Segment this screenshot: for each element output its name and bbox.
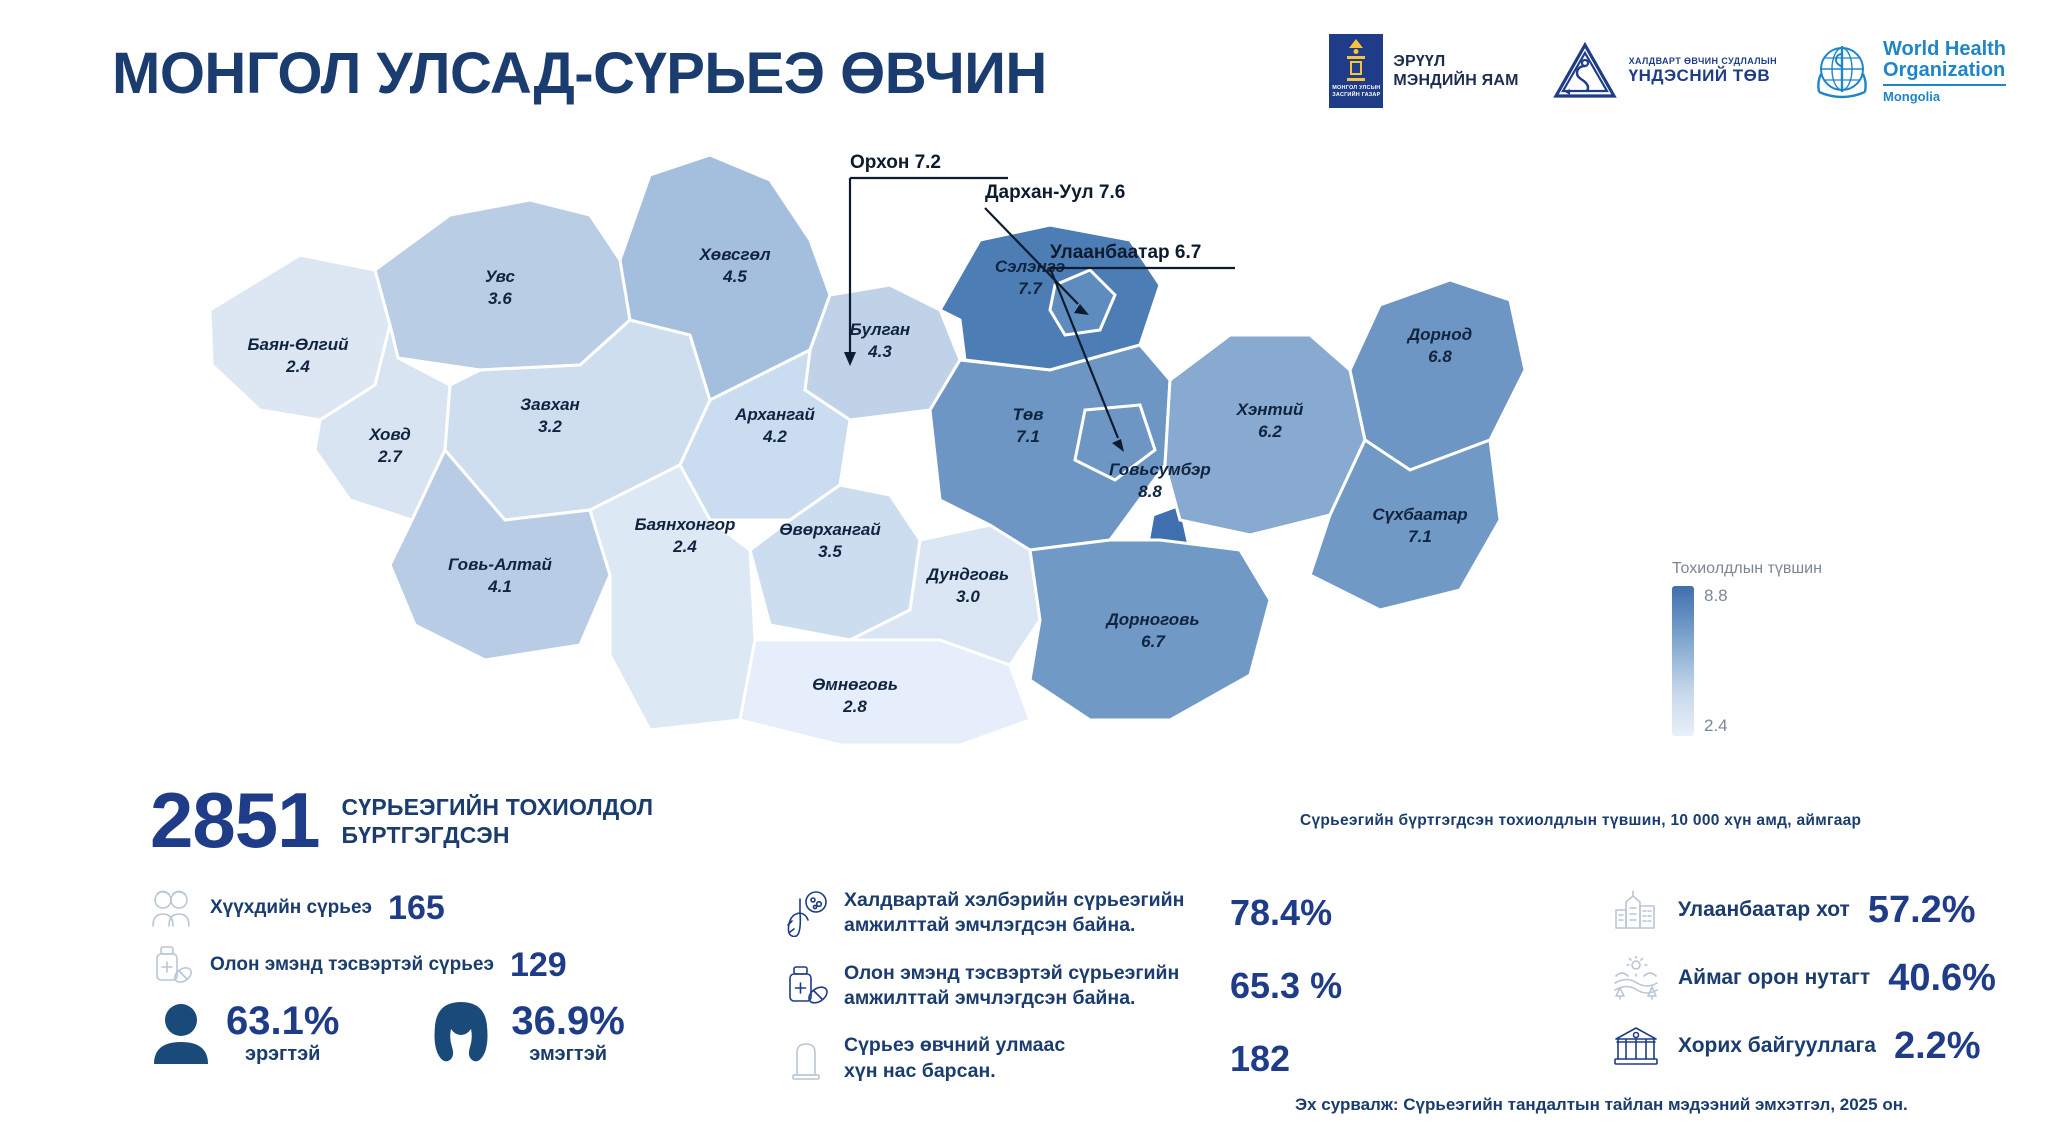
gender-male-value: 63.1% xyxy=(226,1001,339,1041)
stat-row-mdr-tb-success: Олон эмэнд тэсвэртэй сүрьеэгийн амжилтта… xyxy=(782,961,1342,1012)
who-divider xyxy=(1883,84,2006,86)
region-label-tov: Төв xyxy=(1012,405,1043,424)
legend-title: Тохиолдлын түвшин xyxy=(1672,560,1972,578)
region-value-sukhbaatar: 7.1 xyxy=(1408,527,1432,546)
stat-row-mdr-tb: Олон эмэнд тэсвэртэй сүрьеэ 129 xyxy=(148,944,567,986)
who-name-line1: World Health xyxy=(1883,39,2006,60)
region-dornogovi xyxy=(1030,540,1270,720)
who-country: Mongolia xyxy=(1883,89,2006,104)
region-label-khentii: Хэнтий xyxy=(1236,400,1304,419)
caduceus-triangle-icon xyxy=(1553,42,1617,100)
who-logo-name: World Health Organization Mongolia xyxy=(1883,39,2006,104)
stat-label-ulaanbaatar: Улаанбаатар хот xyxy=(1678,896,1850,923)
gov-name-line2: МЭНДИЙН ЯАМ xyxy=(1393,71,1518,90)
treatment-stats-list: Халдвартай хэлбэрийн сүрьеэгийн амжилтта… xyxy=(782,888,1342,1084)
region-label-uvs: Увс xyxy=(485,267,516,286)
male-icon xyxy=(150,1000,212,1066)
stat-row-infectious-tb-success: Халдвартай хэлбэрийн сүрьеэгийн амжилтта… xyxy=(782,888,1342,939)
region-dornod xyxy=(1350,280,1525,470)
soyombo-icon xyxy=(1346,39,1366,83)
stat-value-ulaanbaatar: 57.2% xyxy=(1868,889,1976,932)
callout-label-darkhan-uul: Дархан-Уул 7.6 xyxy=(985,182,1125,203)
callout-label-orkhon: Орхон 7.2 xyxy=(850,152,941,173)
stat-label-line1: Олон эмэнд тэсвэртэй сүрьеэгийн xyxy=(844,961,1216,986)
source-note: Эх сурвалж: Сүрьеэгийн тандалтын тайлан … xyxy=(1295,1095,1908,1115)
region-value-selenge: 7.7 xyxy=(1018,279,1043,298)
logo-strip: МОНГОЛ УЛСЫН ЗАСГИЙН ГАЗАР ЭРҮҮЛ МЭНДИЙН… xyxy=(1329,34,2006,108)
gender-breakdown: 63.1% эрэгтэй 36.9% эмэгтэй xyxy=(150,1000,625,1066)
stat-row-ulaanbaatar: Улаанбаатар хот 57.2% xyxy=(1612,888,1996,932)
total-cases-number: 2851 xyxy=(150,785,320,857)
gov-logo: МОНГОЛ УЛСЫН ЗАСГИЙН ГАЗАР ЭРҮҮЛ МЭНДИЙН… xyxy=(1329,34,1518,108)
gender-female-label: эмэгтэй xyxy=(529,1043,607,1066)
stat-value-prison: 2.2% xyxy=(1894,1025,1981,1068)
region-label-govi-altai: Говь-Алтай xyxy=(448,555,552,574)
region-label-zavkhan: Завхан xyxy=(520,395,580,414)
stat-row-prison: Хорих байгууллага 2.2% xyxy=(1612,1024,1996,1068)
region-label-sukhbaatar: Сүхбаатар xyxy=(1372,505,1467,524)
stat-value-mdr-tb: 129 xyxy=(510,946,567,985)
stat-value-child-tb: 165 xyxy=(388,889,445,928)
total-cases-label-line2: БҮРТГЭГДСЭН xyxy=(342,821,654,849)
region-value-govi-altai: 4.1 xyxy=(487,577,512,596)
mongolia-choropleth-map: Баян-Өлгий 2.4 Увс 3.6 Ховд 2.7 Завхан 3… xyxy=(150,120,1570,750)
stat-value-tb-deaths: 182 xyxy=(1230,1038,1290,1080)
region-value-omnogovi: 2.8 xyxy=(842,697,867,716)
gender-male: 63.1% эрэгтэй xyxy=(150,1000,339,1066)
region-label-govisumber: Говьсумбэр xyxy=(1109,460,1211,479)
region-label-khovd: Ховд xyxy=(368,425,410,444)
stat-label-infectious-tb-success: Халдвартай хэлбэрийн сүрьеэгийн амжилтта… xyxy=(844,888,1216,939)
prison-building-icon xyxy=(1612,1024,1660,1068)
legend-min-value: 2.4 xyxy=(1704,716,1728,736)
who-name-line2: Organization xyxy=(1883,60,2006,81)
medicine-bottle-icon xyxy=(782,962,830,1010)
stat-row-tb-deaths: Сүрьеэ өвчний улмаас хүн нас барсан. 182 xyxy=(782,1033,1342,1084)
page-title: МОНГОЛ УЛСАД-СҮРЬЕЭ ӨВЧИН xyxy=(112,40,1047,107)
gender-female: 36.9% эмэгтэй xyxy=(425,1000,624,1066)
legend-caption: Сүрьеэгийн бүртгэгдсэн тохиолдлын түвшин… xyxy=(1300,812,2020,830)
nctd-name-line2: ҮНДЭСНИЙ ТӨВ xyxy=(1629,66,1777,86)
stat-value-mdr-tb-success: 65.3 % xyxy=(1230,965,1342,1007)
total-cases-label-line1: СҮРЬЕЭГИЙН ТОХИОЛДОЛ xyxy=(342,793,654,821)
stat-label-line1: Халдвартай хэлбэрийн сүрьеэгийн xyxy=(844,888,1216,913)
region-value-khovd: 2.7 xyxy=(377,447,403,466)
region-label-khovsgol: Хөвсгөл xyxy=(698,245,770,264)
gov-logo-name: ЭРҮҮЛ МЭНДИЙН ЯАМ xyxy=(1393,52,1518,90)
left-stats-list: Хүүхдийн сүрьеэ 165 Олон эмэнд тэсвэртэй… xyxy=(148,888,567,986)
nctd-logo: ХАЛДВАРТ ӨВЧИН СУДЛАЛЫН ҮНДЭСНИЙ ТӨВ xyxy=(1553,42,1777,100)
stat-label-tb-deaths: Сүрьеэ өвчний улмаас хүн нас барсан. xyxy=(844,1033,1216,1084)
female-icon xyxy=(425,1000,497,1066)
region-label-bulgan: Булган xyxy=(850,320,910,339)
region-label-bayankhongor: Баянхонгор xyxy=(635,515,736,534)
stat-label-mdr-tb-success: Олон эмэнд тэсвэртэй сүрьеэгийн амжилтта… xyxy=(844,961,1216,1012)
stat-label-line1: Сүрьеэ өвчний улмаас xyxy=(844,1033,1216,1058)
stat-value-infectious-tb-success: 78.4% xyxy=(1230,892,1332,934)
region-value-bayan-olgii: 2.4 xyxy=(285,357,310,376)
location-stats-list: Улаанбаатар хот 57.2% Аймаг орон нутагт … xyxy=(1612,888,1996,1068)
map-legend: Тохиолдлын түвшин 8.8 2.4 xyxy=(1672,560,1972,736)
infographic-root: МОНГОЛ УЛСАД-СҮРЬЕЭ ӨВЧИН МОНГОЛ УЛСЫН З… xyxy=(0,0,2048,1143)
callout-label-ulaanbaatar: Улаанбаатар 6.7 xyxy=(1050,242,1201,263)
lungs-icon xyxy=(782,889,830,937)
gov-crest-text: МОНГОЛ УЛСЫН ЗАСГИЙН ГАЗАР xyxy=(1329,85,1383,99)
region-label-arkhangai: Архангай xyxy=(734,405,815,424)
who-emblem-icon xyxy=(1811,40,1873,102)
stat-label-line2: амжилттай эмчлэгдсэн байна. xyxy=(844,986,1216,1011)
region-value-arkhangai: 4.2 xyxy=(762,427,787,446)
region-value-govisumber: 8.8 xyxy=(1138,482,1162,501)
region-label-dornod: Дорнод xyxy=(1406,325,1472,344)
stat-row-rural: Аймаг орон нутагт 40.6% xyxy=(1612,956,1996,1000)
region-value-khovsgol: 4.5 xyxy=(722,267,747,286)
stat-label-rural: Аймаг орон нутагт xyxy=(1678,964,1870,991)
stat-label-prison: Хорих байгууллага xyxy=(1678,1032,1876,1059)
region-value-tov: 7.1 xyxy=(1016,427,1040,446)
medicine-bottle-icon xyxy=(148,944,194,986)
stat-label-line2: хүн нас барсан. xyxy=(844,1059,1216,1084)
gravestone-icon xyxy=(782,1035,830,1083)
stat-label-child-tb: Хүүхдийн сүрьеэ xyxy=(210,896,372,921)
total-cases-label: СҮРЬЕЭГИЙН ТОХИОЛДОЛ БҮРТГЭГДСЭН xyxy=(342,793,654,849)
map-regions xyxy=(210,155,1525,745)
region-value-bayankhongor: 2.4 xyxy=(672,537,697,556)
region-value-dundgovi: 3.0 xyxy=(956,587,980,606)
region-label-dundgovi: Дундговь xyxy=(925,565,1009,584)
countryside-icon xyxy=(1612,956,1660,1000)
city-icon xyxy=(1612,888,1660,932)
region-value-dornod: 6.8 xyxy=(1428,347,1452,366)
region-value-uvs: 3.6 xyxy=(488,289,512,308)
region-value-zavkhan: 3.2 xyxy=(538,417,562,436)
region-label-dornogovi: Дорноговь xyxy=(1104,610,1199,629)
gov-name-line1: ЭРҮҮЛ xyxy=(1393,52,1518,71)
stat-label-line2: амжилттай эмчлэгдсэн байна. xyxy=(844,913,1216,938)
region-value-dornogovi: 6.7 xyxy=(1141,632,1166,651)
region-value-ovorkhangai: 3.5 xyxy=(818,542,842,561)
mongolia-crest-icon: МОНГОЛ УЛСЫН ЗАСГИЙН ГАЗАР xyxy=(1329,34,1383,108)
legend-gradient-bar xyxy=(1672,586,1694,736)
who-logo: World Health Organization Mongolia xyxy=(1811,39,2006,104)
stat-label-mdr-tb: Олон эмэнд тэсвэртэй сүрьеэ xyxy=(210,953,494,978)
region-label-ovorkhangai: Өвөрхангай xyxy=(779,520,881,539)
region-value-khentii: 6.2 xyxy=(1258,422,1282,441)
region-value-bulgan: 4.3 xyxy=(867,342,892,361)
total-cases-block: 2851 СҮРЬЕЭГИЙН ТОХИОЛДОЛ БҮРТГЭГДСЭН xyxy=(150,785,653,857)
nctd-name-line1: ХАЛДВАРТ ӨВЧИН СУДЛАЛЫН xyxy=(1629,56,1777,66)
stat-row-child-tb: Хүүхдийн сүрьеэ 165 xyxy=(148,888,567,928)
children-icon xyxy=(148,888,194,928)
gender-female-value: 36.9% xyxy=(511,1001,624,1041)
region-label-omnogovi: Өмнөговь xyxy=(812,675,898,694)
gender-male-label: эрэгтэй xyxy=(245,1043,321,1066)
region-label-bayan-olgii: Баян-Өлгий xyxy=(247,335,349,354)
stat-value-rural: 40.6% xyxy=(1888,957,1996,1000)
legend-max-value: 8.8 xyxy=(1704,586,1728,606)
nctd-logo-name: ХАЛДВАРТ ӨВЧИН СУДЛАЛЫН ҮНДЭСНИЙ ТӨВ xyxy=(1629,56,1777,86)
